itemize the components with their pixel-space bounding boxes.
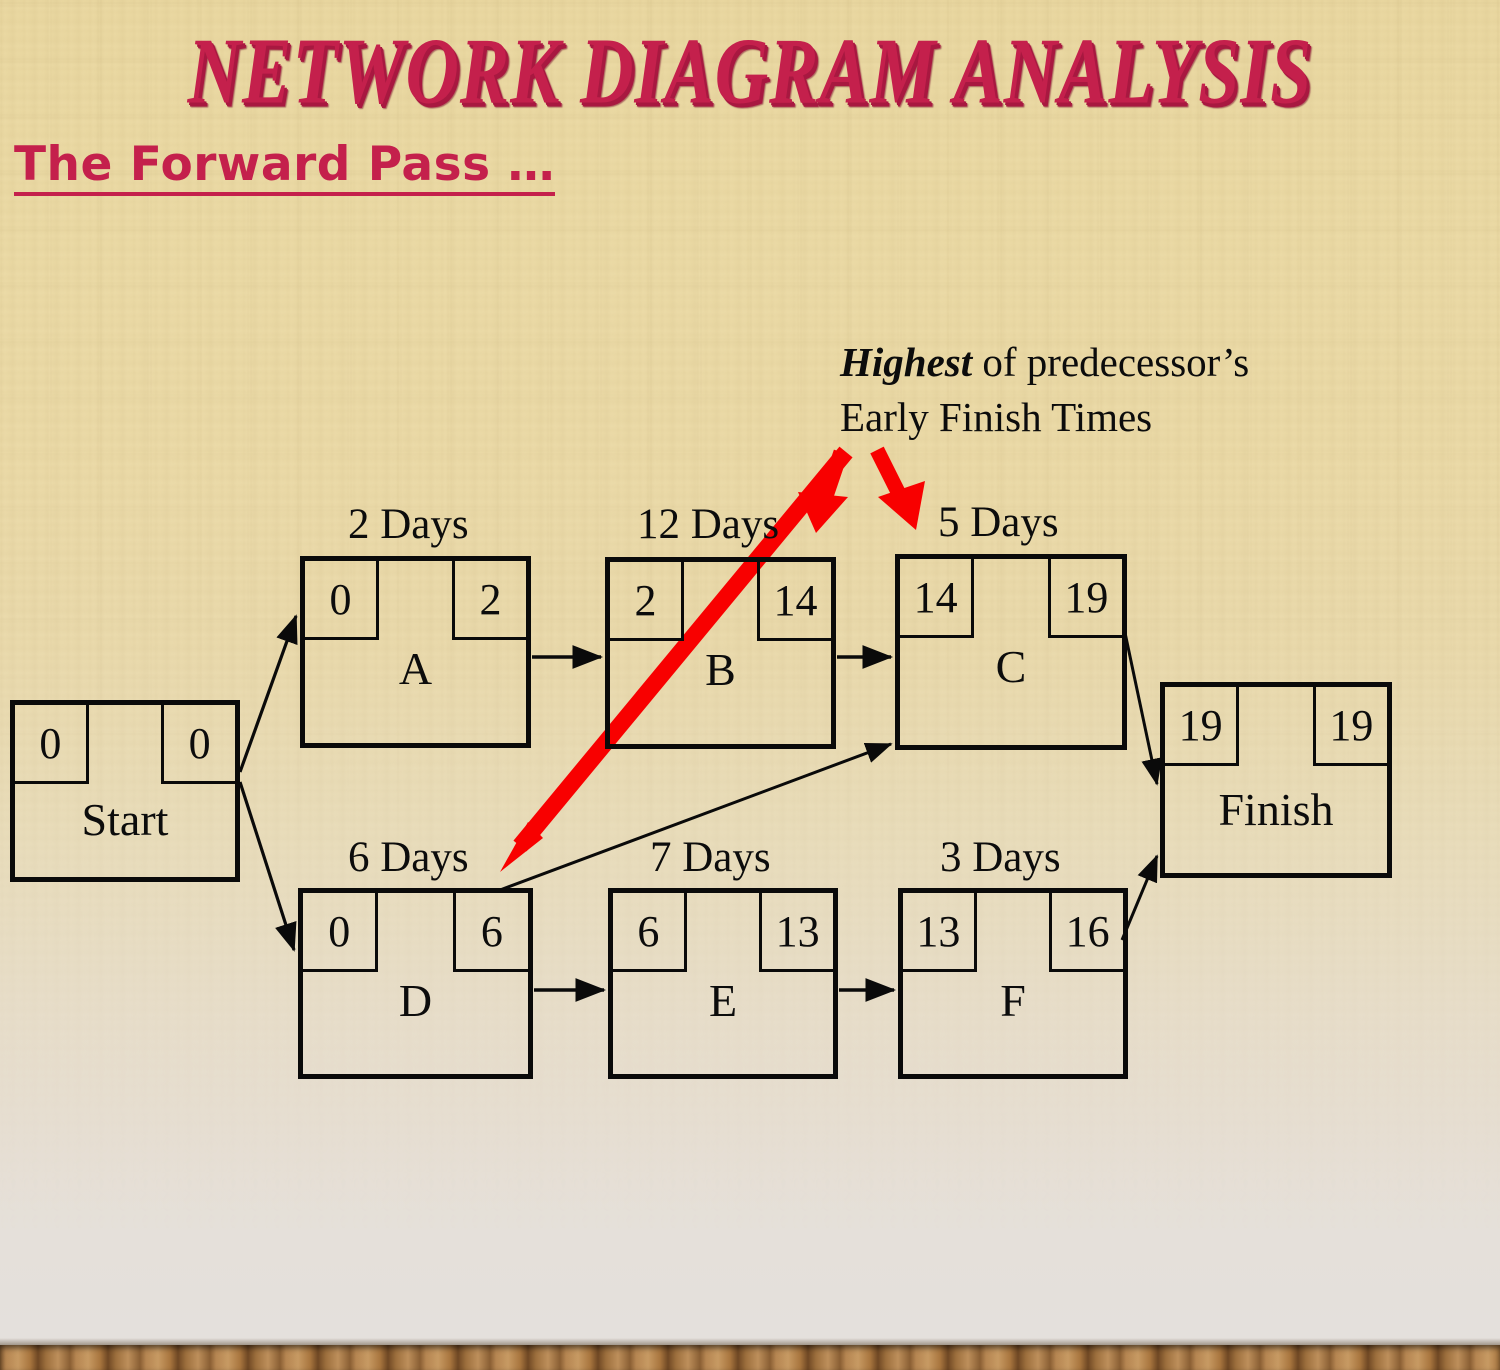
duration-c: 5 Days [938,498,1059,547]
node-finish-early-finish: 19 [1313,687,1387,766]
node-finish-early-start: 19 [1165,687,1239,766]
node-b-early-finish: 14 [757,562,831,641]
node-c[interactable]: 14 19 C [895,554,1127,750]
node-b[interactable]: 2 14 B [605,557,836,749]
duration-f: 3 Days [940,833,1061,882]
node-start[interactable]: 0 0 Start [10,700,240,882]
edge-c-finish [1124,628,1157,784]
slide-canvas: NETWORK DIAGRAM ANALYSIS The Forward Pas… [0,0,1500,1370]
duration-b: 12 Days [637,500,779,549]
node-d-early-finish: 6 [453,893,528,972]
node-d-early-start: 0 [303,893,378,972]
node-a-early-start: 0 [305,561,379,640]
node-e-label: E [613,978,833,1024]
node-d-label: D [303,978,528,1024]
node-f-early-finish: 16 [1049,893,1123,972]
node-c-label: C [900,644,1122,690]
node-start-early-finish: 0 [161,705,235,784]
node-finish-label: Finish [1165,787,1387,833]
node-f-early-start: 13 [903,893,977,972]
node-c-early-start: 14 [900,559,974,638]
edge-start-d [240,782,294,950]
node-a-label: A [305,646,526,692]
node-e-early-finish: 13 [759,893,833,972]
edge-start-a [240,616,296,772]
node-e[interactable]: 6 13 E [608,888,838,1079]
annotation-arrow-to-c [877,450,925,530]
node-e-early-start: 6 [613,893,687,972]
node-f-label: F [903,978,1123,1024]
node-f[interactable]: 13 16 F [898,888,1128,1079]
node-finish[interactable]: 19 19 Finish [1160,682,1392,878]
node-start-early-start: 0 [15,705,89,784]
node-c-early-finish: 19 [1048,559,1122,638]
duration-d: 6 Days [348,833,469,882]
duration-a: 2 Days [348,500,469,549]
node-start-label: Start [15,797,235,843]
node-b-label: B [610,647,831,693]
node-a[interactable]: 0 2 A [300,556,531,748]
node-b-early-start: 2 [610,562,684,641]
node-d[interactable]: 0 6 D [298,888,533,1079]
duration-e: 7 Days [650,833,771,882]
node-a-early-finish: 2 [452,561,526,640]
